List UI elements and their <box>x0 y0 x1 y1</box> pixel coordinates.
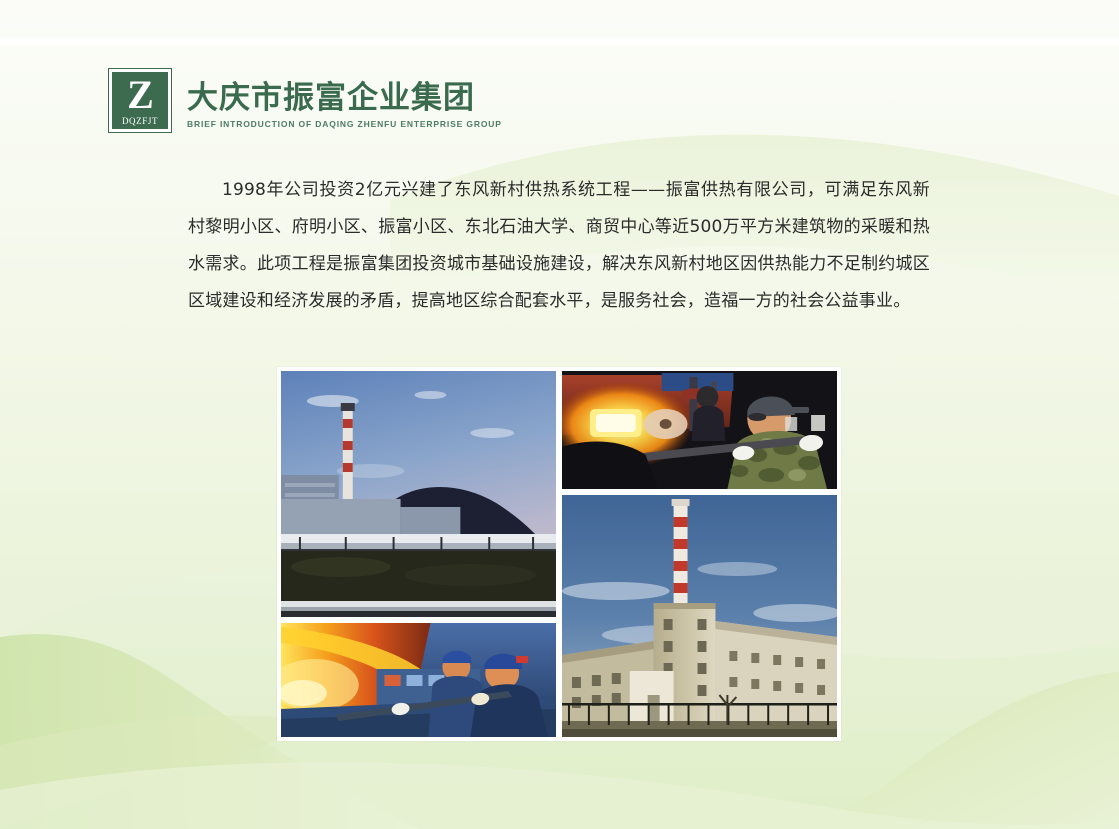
logo-inner-block: Z DQZFJT <box>112 72 168 129</box>
photo-workers-control-panel: Two workers in blue uniforms and caps op… <box>281 623 556 737</box>
brand-title-block: 大庆市振富企业集团 BRIEF INTRODUCTION OF DAQING Z… <box>187 81 502 129</box>
page-title: 大庆市振富企业集团 <box>187 81 502 115</box>
photo-collage: Heating plant exterior with tall red-and… <box>277 367 841 741</box>
slide-page: Z DQZFJT 大庆市振富企业集团 BRIEF INTRODUCTION OF… <box>0 0 1119 829</box>
logo-letter-z: Z <box>127 75 153 115</box>
company-logo: Z DQZFJT <box>108 68 172 133</box>
photo-plant-building-tall: Multi-storey beige boiler house building… <box>562 495 837 737</box>
page-subtitle: BRIEF INTRODUCTION OF DAQING ZHENFU ENTE… <box>187 119 502 129</box>
collage-column-left: Heating plant exterior with tall red-and… <box>281 371 556 737</box>
body-paragraph: 1998年公司投资2亿元兴建了东风新村供热系统工程——振富供热有限公司，可满足东… <box>188 172 930 320</box>
collage-column-right: Worker in camouflage jacket and cap insp… <box>562 371 837 737</box>
top-divider-band <box>0 38 1119 46</box>
bg-valley <box>0 762 1119 829</box>
logo-abbreviation: DQZFJT <box>122 116 158 126</box>
photo-plant-wide: Heating plant exterior with tall red-and… <box>281 371 556 617</box>
photo-furnace-inspection: Worker in camouflage jacket and cap insp… <box>562 371 837 489</box>
brand-header: Z DQZFJT 大庆市振富企业集团 BRIEF INTRODUCTION OF… <box>108 68 502 133</box>
